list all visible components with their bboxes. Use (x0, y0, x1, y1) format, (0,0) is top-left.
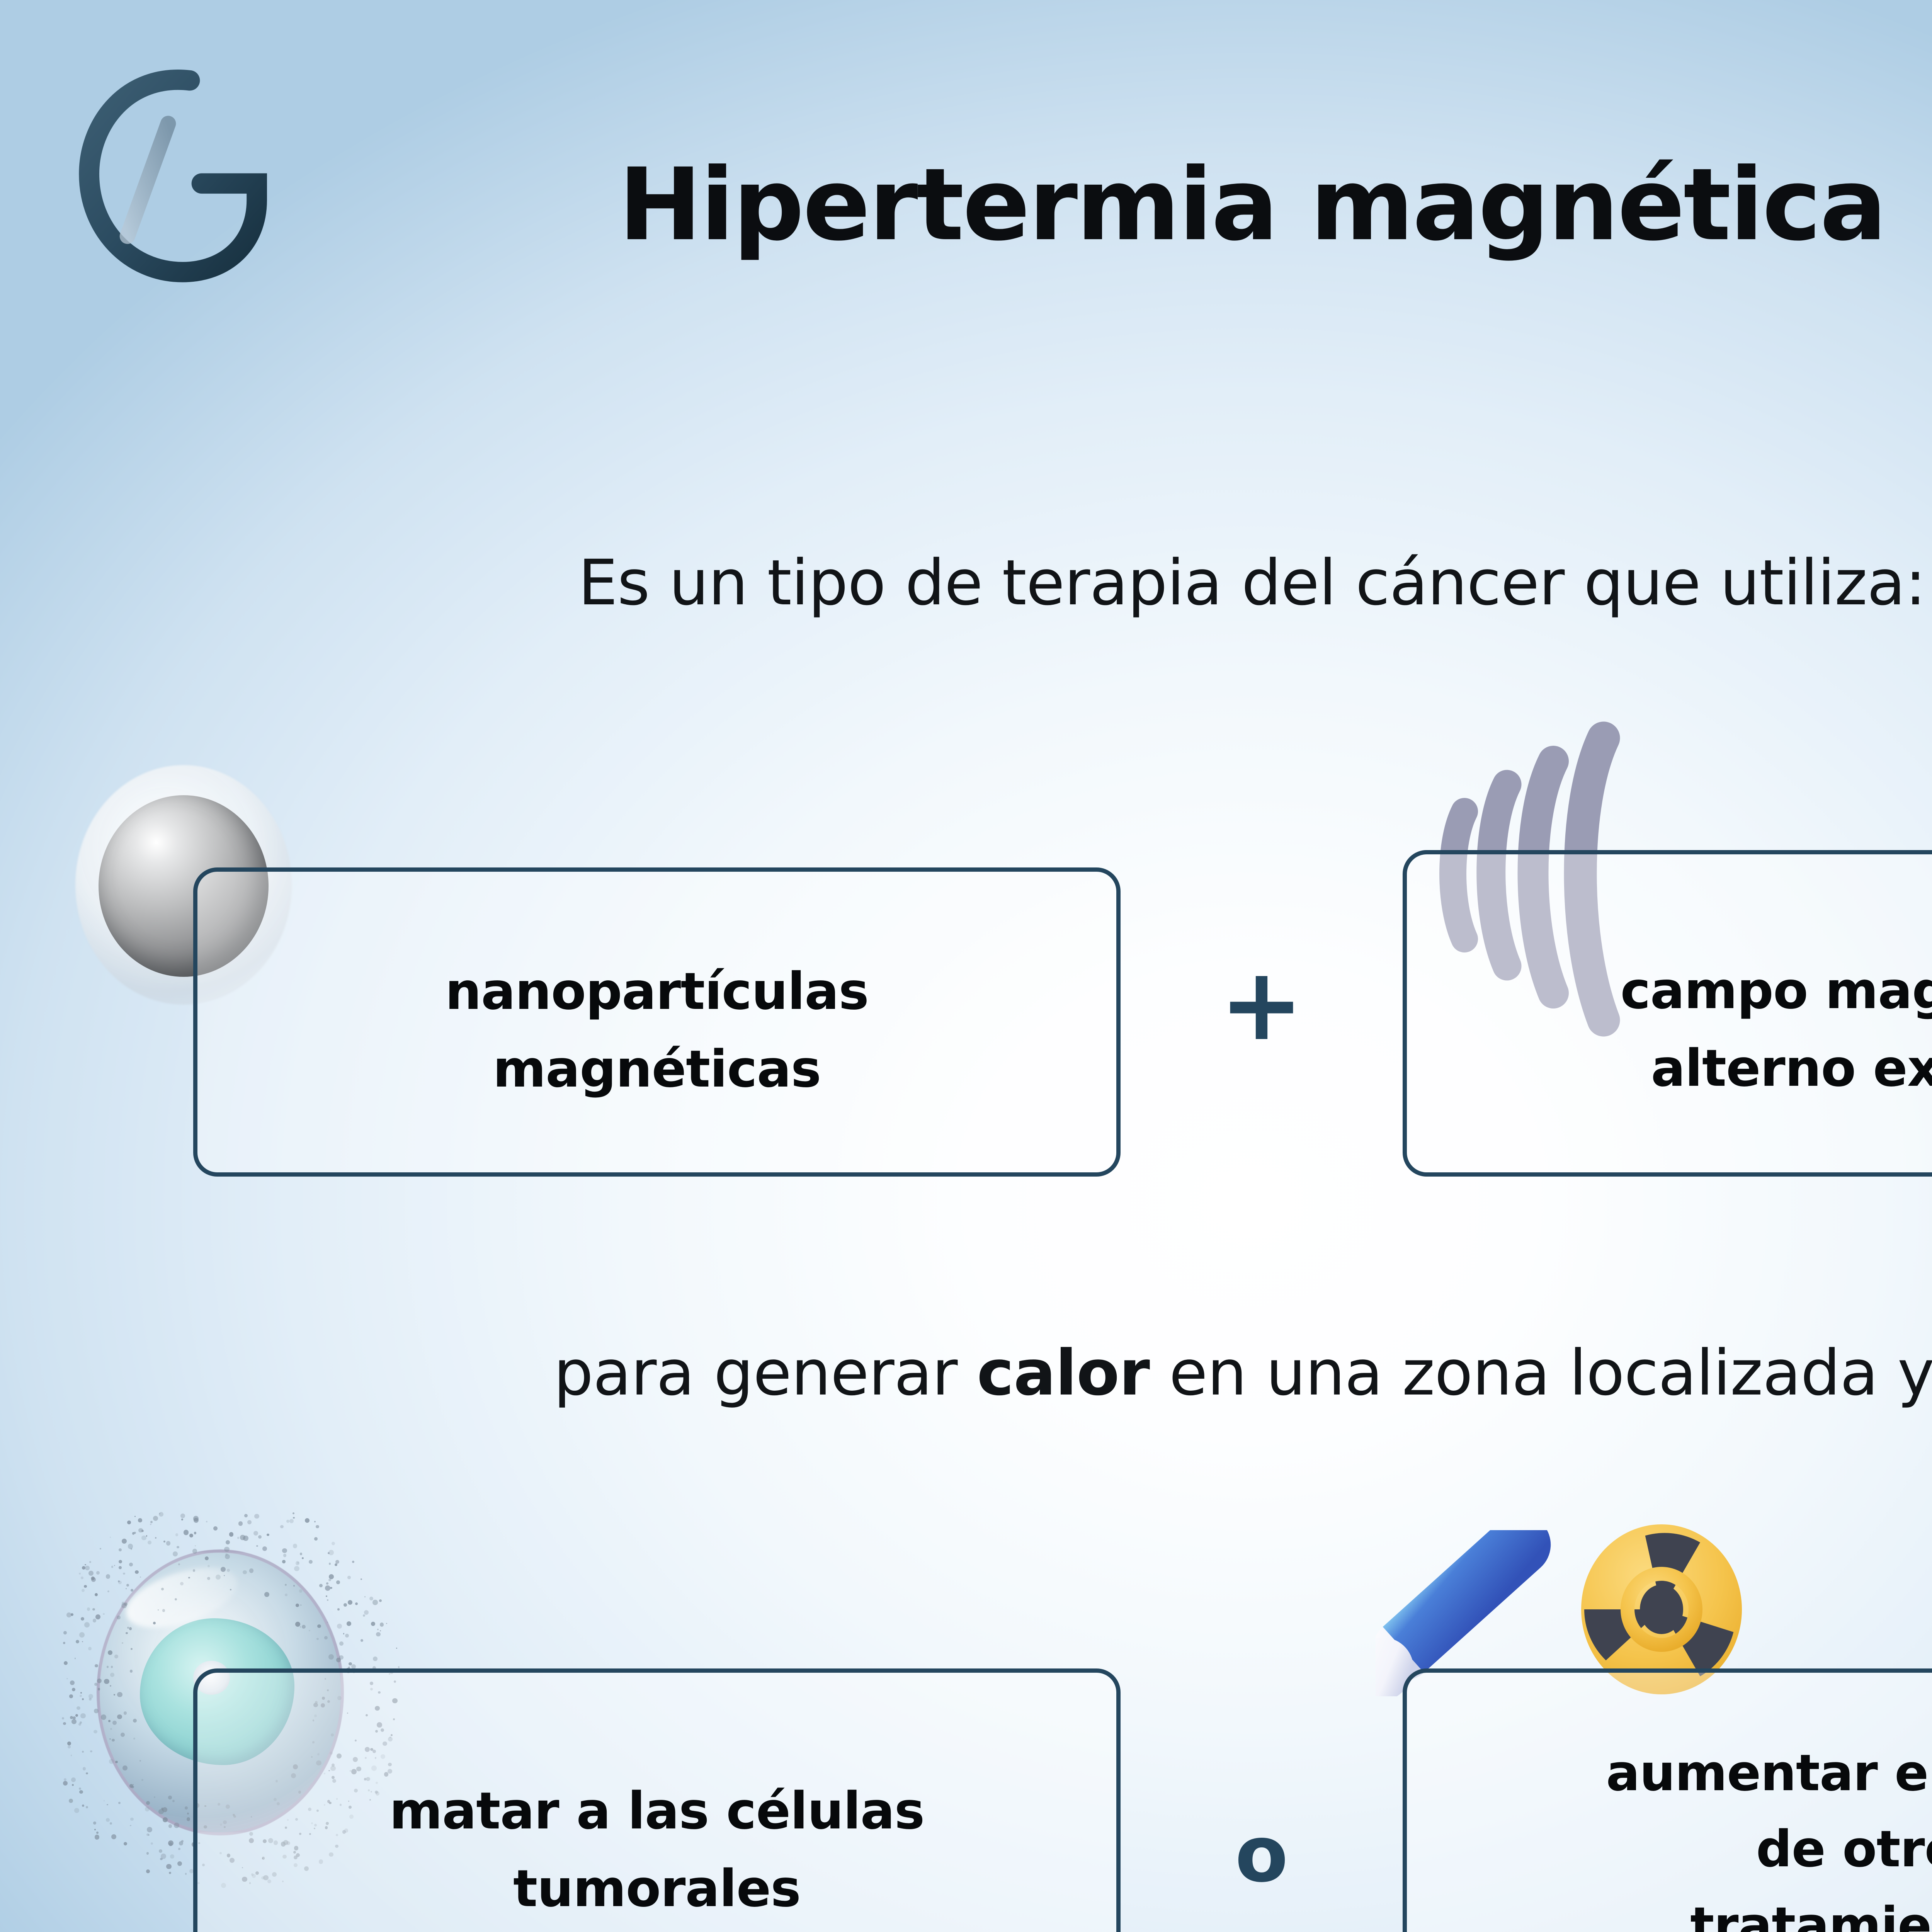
intro-line: Es un tipo de terapia del cáncer que uti… (0, 547, 1932, 619)
or-operator: o (1121, 1816, 1403, 1893)
page-title: Hipertermia magnética (0, 147, 1932, 263)
middle-suffix: en una zona localizada y: (1150, 1337, 1932, 1410)
middle-prefix: para generar (554, 1337, 977, 1410)
card-campo-magnetico[interactable]: campo magnético alterno externo (1403, 850, 1932, 1177)
card-label: aumentar el efecto de otros tratamientos (1579, 1735, 1932, 1932)
card-nanoparticulas[interactable]: nanopartículas magnéticas (193, 867, 1121, 1177)
slide-canvas: Hipertermia magnética Es un tipo de tera… (0, 0, 1932, 1932)
card-label: campo magnético alterno externo (1594, 952, 1932, 1107)
card-label: matar a las células tumorales (362, 1772, 952, 1927)
card-aumentar-efecto[interactable]: aumentar el efecto de otros tratamientos (1403, 1668, 1932, 1932)
card-matar-celulas[interactable]: matar a las células tumorales (193, 1668, 1121, 1932)
card-label: nanopartículas magnéticas (418, 953, 896, 1108)
plus-operator: + (1121, 954, 1403, 1055)
middle-emphasis: calor (977, 1337, 1150, 1410)
middle-line: para generar calor en una zona localizad… (0, 1337, 1932, 1410)
